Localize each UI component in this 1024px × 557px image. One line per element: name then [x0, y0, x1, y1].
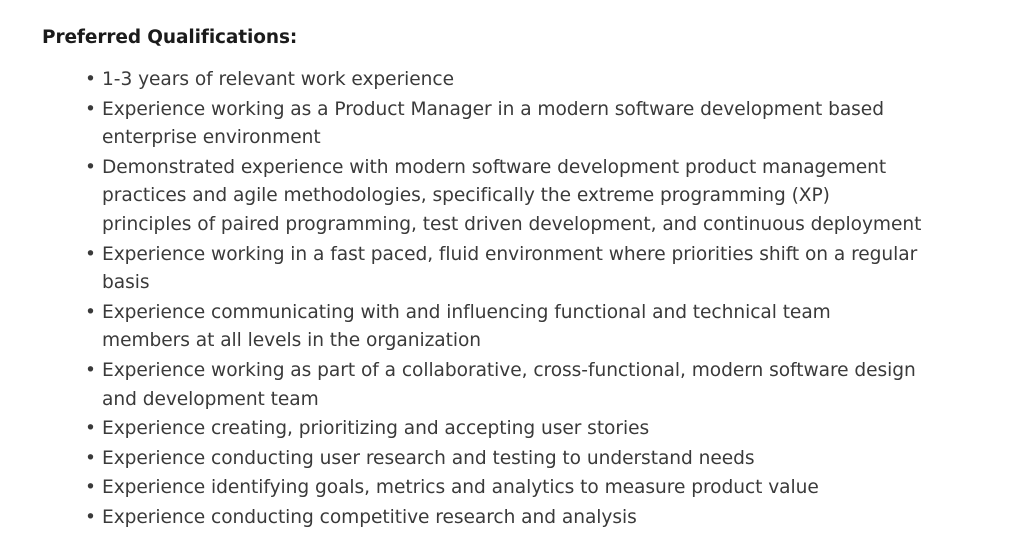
bullet-icon: • [85, 445, 97, 474]
page-title: Preferred Qualifications: [42, 26, 984, 50]
list-item-text: 1-3 years of relevant work experience [102, 66, 924, 95]
list-item-text: Experience working in a fast paced, flui… [102, 241, 924, 298]
bullet-icon: • [85, 415, 97, 444]
list-item: • Experience communicating with and infl… [42, 299, 984, 356]
bullet-icon: • [85, 154, 97, 183]
bullet-icon: • [85, 66, 97, 95]
list-item-text: Experience conducting user research and … [102, 445, 924, 474]
list-item: • 1-3 years of relevant work experience [42, 66, 984, 95]
bullet-icon: • [85, 241, 97, 270]
list-item-text: Experience working as a Product Manager … [102, 96, 924, 153]
bullet-icon: • [85, 96, 97, 125]
list-item: • Experience conducting user research an… [42, 445, 984, 474]
list-item: • Experience identifying goals, metrics … [42, 474, 984, 503]
list-item-text: Experience communicating with and influe… [102, 299, 924, 356]
bullet-icon: • [85, 504, 97, 533]
list-item-text: Experience creating, prioritizing and ac… [102, 415, 924, 444]
document-page: Preferred Qualifications: • 1-3 years of… [0, 0, 1024, 557]
list-item: • Experience working as part of a collab… [42, 357, 984, 414]
preferred-qualifications-list: • 1-3 years of relevant work experience … [42, 66, 984, 533]
list-item-text: Experience working as part of a collabor… [102, 357, 924, 414]
bullet-icon: • [85, 299, 97, 328]
list-item: • Experience creating, prioritizing and … [42, 415, 984, 444]
list-item: • Experience conducting competitive rese… [42, 504, 984, 533]
bullet-icon: • [85, 474, 97, 503]
list-item: • Demonstrated experience with modern so… [42, 154, 984, 240]
list-item-text: Experience identifying goals, metrics an… [102, 474, 924, 503]
list-item: • Experience working as a Product Manage… [42, 96, 984, 153]
list-item-text: Experience conducting competitive resear… [102, 504, 924, 533]
list-item: • Experience working in a fast paced, fl… [42, 241, 984, 298]
list-item-text: Demonstrated experience with modern soft… [102, 154, 924, 240]
bullet-icon: • [85, 357, 97, 386]
